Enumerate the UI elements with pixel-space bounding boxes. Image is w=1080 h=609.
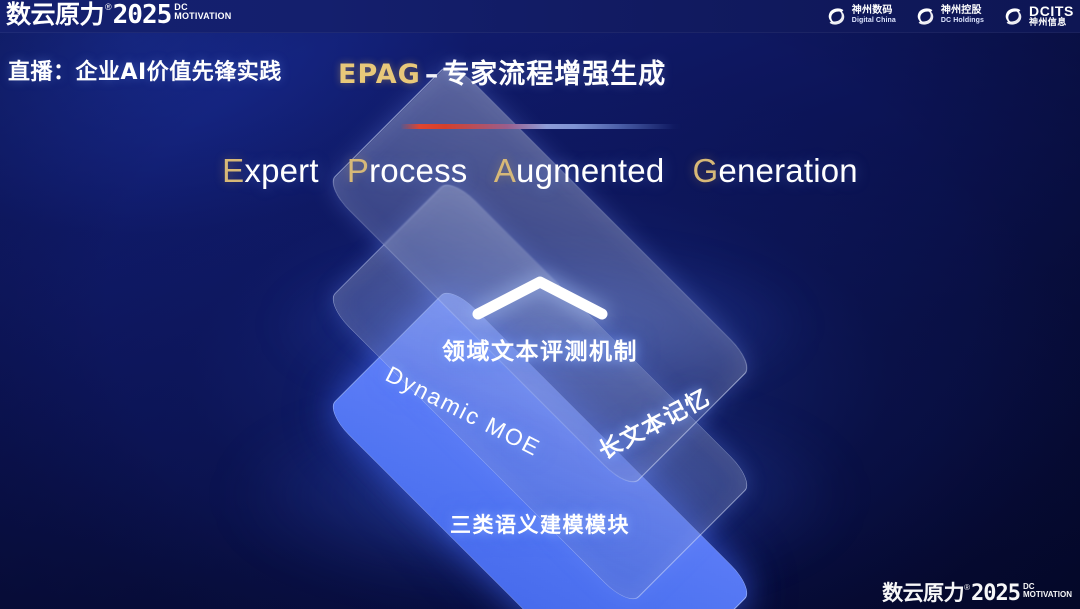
subtitle-word: Expert xyxy=(222,152,319,189)
swirl-icon xyxy=(1002,5,1025,28)
slide-canvas: 领域文本评测机制 Dynamic MOE 长文本记忆 三类语义建模模块 数云原力… xyxy=(0,0,1080,609)
chevron-up-icon xyxy=(470,274,610,320)
brand-year: 2025 xyxy=(113,1,172,29)
watermark-motivation-text: MOTIVATION xyxy=(1023,591,1072,599)
partner-name-cn: 神州数码 xyxy=(852,6,896,16)
subtitle-word-rest: ugmented xyxy=(516,152,664,189)
partner-name-cn: 神州信息 xyxy=(1029,18,1074,28)
footer-watermark-logo: 数云原力 ® 2025 DC MOTIVATION xyxy=(882,582,1072,605)
title-acronym: EPAG xyxy=(338,59,421,90)
subtitle-word: Process xyxy=(347,152,468,189)
live-session-label: 直播：企业AI价值先锋实践 xyxy=(8,54,282,86)
partner-name-en: DC Holdings xyxy=(941,16,984,26)
diagram-layer-bottom-label: 三类语义建模模块 xyxy=(450,509,630,539)
brand-name-cn: 数云原力 xyxy=(6,1,104,29)
title-dash: – xyxy=(425,59,439,90)
diagram-layer-top-label: 领域文本评测机制 xyxy=(442,332,638,366)
subtitle-word-rest: xpert xyxy=(244,152,318,189)
partner-logo-dcits: DCITS 神州信息 xyxy=(1002,4,1074,28)
brand-motivation-text: MOTIVATION xyxy=(174,12,231,21)
title-divider xyxy=(400,124,682,129)
partner-name-en: DCITS xyxy=(1029,4,1074,18)
title-chinese: 专家流程增强生成 xyxy=(442,59,666,90)
subtitle-word-initial: G xyxy=(693,152,719,189)
subtitle-word: Generation xyxy=(693,152,858,189)
watermark-registered-mark: ® xyxy=(964,582,970,593)
partner-name-en: Digital China xyxy=(852,16,896,26)
watermark-name-cn: 数云原力 xyxy=(882,582,964,605)
swirl-icon xyxy=(914,5,937,28)
swirl-icon xyxy=(825,5,848,28)
subtitle-word-initial: A xyxy=(494,152,516,189)
subtitle-word-initial: E xyxy=(222,152,244,189)
brand-logo: 数云原力 ® 2025 DC MOTIVATION xyxy=(6,1,231,29)
partner-logo-group: 神州数码 Digital China 神州控股 DC Holdings DCIT… xyxy=(825,4,1074,28)
page-title: EPAG–专家流程增强生成 xyxy=(338,52,666,91)
subtitle-word-rest: rocess xyxy=(369,152,467,189)
partner-logo-dc-holdings: 神州控股 DC Holdings xyxy=(914,5,984,28)
brand-registered-mark: ® xyxy=(105,1,112,14)
subtitle-expansion: Expert Process Augmented Generation xyxy=(0,152,1080,190)
subtitle-word-rest: eneration xyxy=(718,152,857,189)
partner-logo-digital-china: 神州数码 Digital China xyxy=(825,5,896,28)
subtitle-word: Augmented xyxy=(494,152,665,189)
partner-name-cn: 神州控股 xyxy=(941,6,984,16)
subtitle-word-initial: P xyxy=(347,152,369,189)
watermark-year: 2025 xyxy=(971,582,1020,605)
